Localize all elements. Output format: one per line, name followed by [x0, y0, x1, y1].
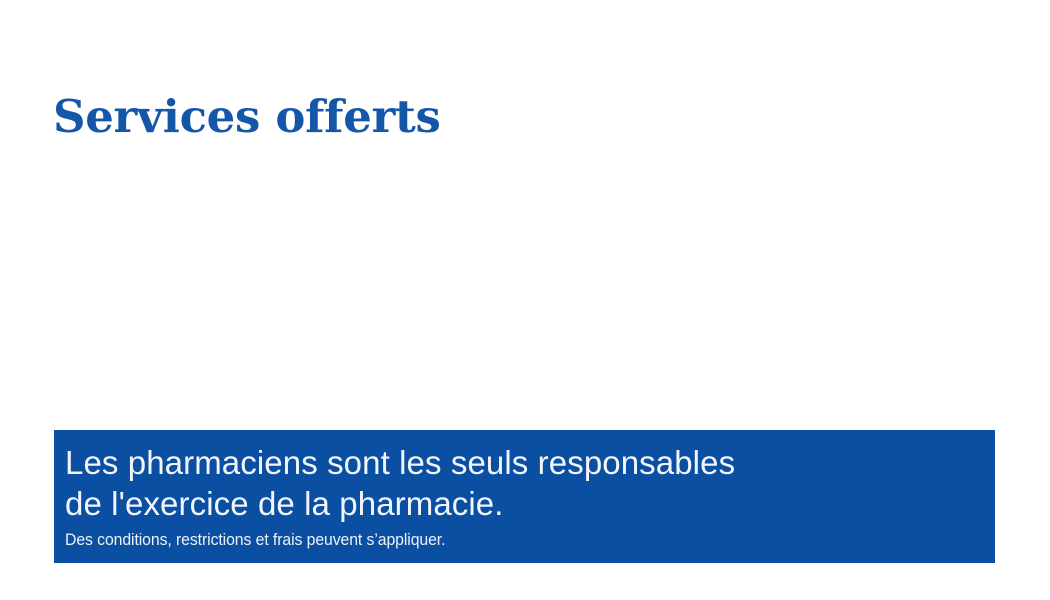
slide-canvas: Services offerts Les pharmaciens sont le…	[0, 0, 1050, 600]
callout-subnote: Des conditions, restrictions et frais pe…	[65, 529, 917, 551]
callout-banner: Les pharmaciens sont les seuls responsab…	[54, 430, 995, 563]
callout-headline-line-1: Les pharmaciens sont les seuls responsab…	[65, 442, 981, 483]
callout-headline-line-2: de l'exercice de la pharmacie.	[65, 483, 981, 524]
slide-content-area	[53, 130, 997, 425]
callout-headline: Les pharmaciens sont les seuls responsab…	[65, 442, 981, 524]
